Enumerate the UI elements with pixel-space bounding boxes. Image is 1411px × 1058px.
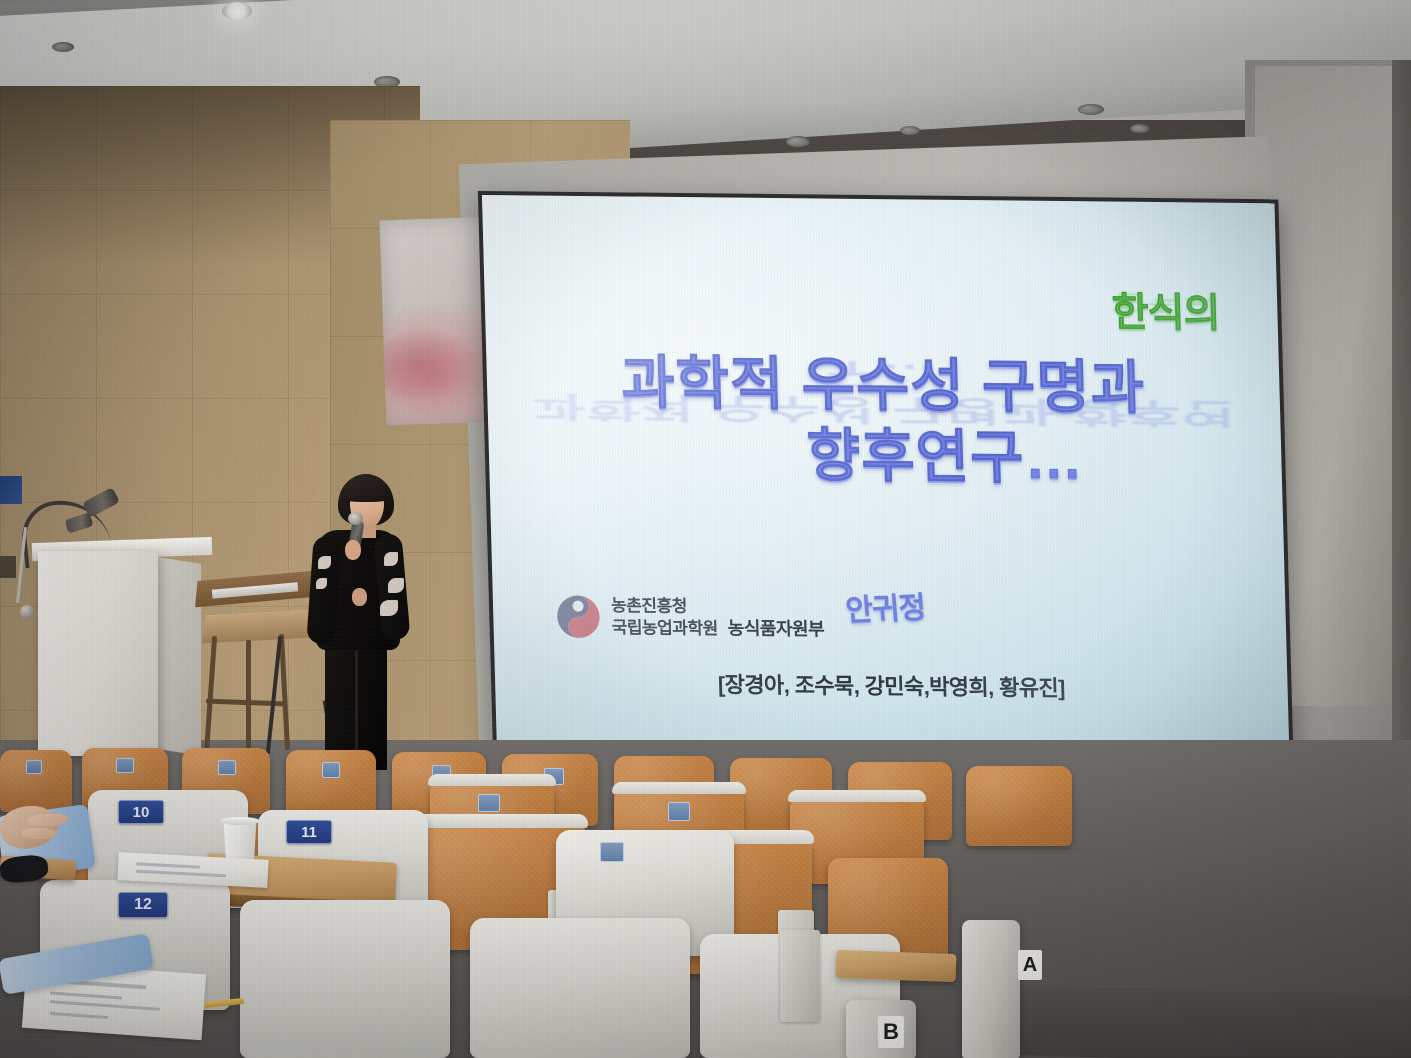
seat-number-plaque [116, 758, 134, 773]
seat-number-plaque [218, 760, 236, 775]
projection-screen-frame: 한식의 한식의 과학적 우수성 구명과 향후연구… 과학적 우수성 구명과 향후… [478, 191, 1294, 784]
ceiling-vent-icon [786, 136, 810, 147]
seat-top-rim [612, 782, 746, 794]
aisle-end-panel [962, 920, 1020, 1058]
seat-number-plaque [668, 802, 690, 821]
slide-org-lines: 농촌진흥청 국립농업과학원 [611, 595, 718, 640]
paper-cup-rim [220, 817, 260, 825]
presentation-photo-scene: 202 기 한식의 한식의 과학적 우수성 구명과 향후연구… 과학적 우수성 … [0, 0, 1411, 1058]
wall-knob [20, 605, 34, 619]
wall-signage-plate [0, 476, 22, 504]
seat-number-plaque [322, 762, 340, 778]
presenter-hand-holding-mic [345, 540, 361, 560]
audience-finger [22, 827, 56, 839]
slide-department: 농식품자원부 [727, 614, 824, 642]
row-letter-marker: A [1018, 950, 1042, 980]
seat-number-plaque [26, 760, 42, 774]
slide-title-line1: 과학적 우수성 구명과 [620, 350, 1146, 420]
rda-taegeuk-logo-icon [555, 593, 602, 639]
seat-top-rim [428, 774, 556, 786]
ceiling-vent-icon [900, 126, 920, 135]
sleeve-floral-motif [316, 578, 327, 589]
slide-title-line2: 향후연구… [488, 418, 1282, 497]
slide-eyebrow-text: 한식의 [1111, 279, 1220, 338]
seat-number-plaque: 11 [286, 820, 332, 844]
stool-leg [246, 640, 251, 748]
slide-title: 과학적 우수성 구명과 향후연구… [486, 347, 1282, 497]
sleeve-floral-motif [380, 600, 398, 616]
seat-number-plaque: 12 [118, 892, 168, 918]
wall-recess [0, 556, 16, 578]
seat-top-rim [788, 790, 926, 802]
ceiling-vent-icon [1130, 124, 1150, 133]
slide-org-line2: 국립농업과학원 [611, 617, 718, 640]
sleeve-floral-motif [388, 578, 404, 593]
wall-right-edge [1392, 60, 1411, 820]
floor-shadow-area [979, 984, 1411, 1058]
slide-credit-block: 농촌진흥청 국립농업과학원 농식품자원부 [555, 593, 825, 642]
sleeve-floral-motif [384, 552, 398, 566]
projected-slide: 한식의 한식의 과학적 우수성 구명과 향후연구… 과학적 우수성 구명과 향후… [482, 195, 1290, 774]
row-letter-marker: B [878, 1016, 904, 1048]
aisle-desk-surface [836, 950, 957, 982]
seat-back[interactable] [966, 766, 1072, 846]
seat-shell[interactable] [240, 900, 450, 1058]
podium-side [153, 556, 201, 756]
seat-hinge-bracket [780, 930, 820, 1022]
seat-shell[interactable] [470, 918, 690, 1058]
microphone-head-icon [348, 512, 363, 525]
sleeve-floral-motif [318, 556, 331, 569]
seat-number-plaque [600, 842, 624, 862]
slide-org-line1: 농촌진흥청 [611, 595, 718, 618]
seat-number-plaque [478, 794, 500, 812]
seat-back[interactable] [286, 750, 376, 818]
projection-screen: 한식의 한식의 과학적 우수성 구명과 향후연구… 과학적 우수성 구명과 향후… [478, 191, 1294, 784]
seat-number-plaque: 10 [118, 800, 164, 824]
podium [38, 551, 158, 756]
slide-authors-list: [장경아, 조수묵, 강민숙,박영희, 황유진] [495, 665, 1288, 705]
ceiling-vent-icon [1078, 104, 1104, 115]
slide-presenter-name: 안귀정 [844, 582, 927, 629]
ceiling-downlight-icon [222, 2, 252, 20]
ceiling-vent-icon [52, 42, 74, 52]
presenter-other-hand [352, 588, 367, 606]
